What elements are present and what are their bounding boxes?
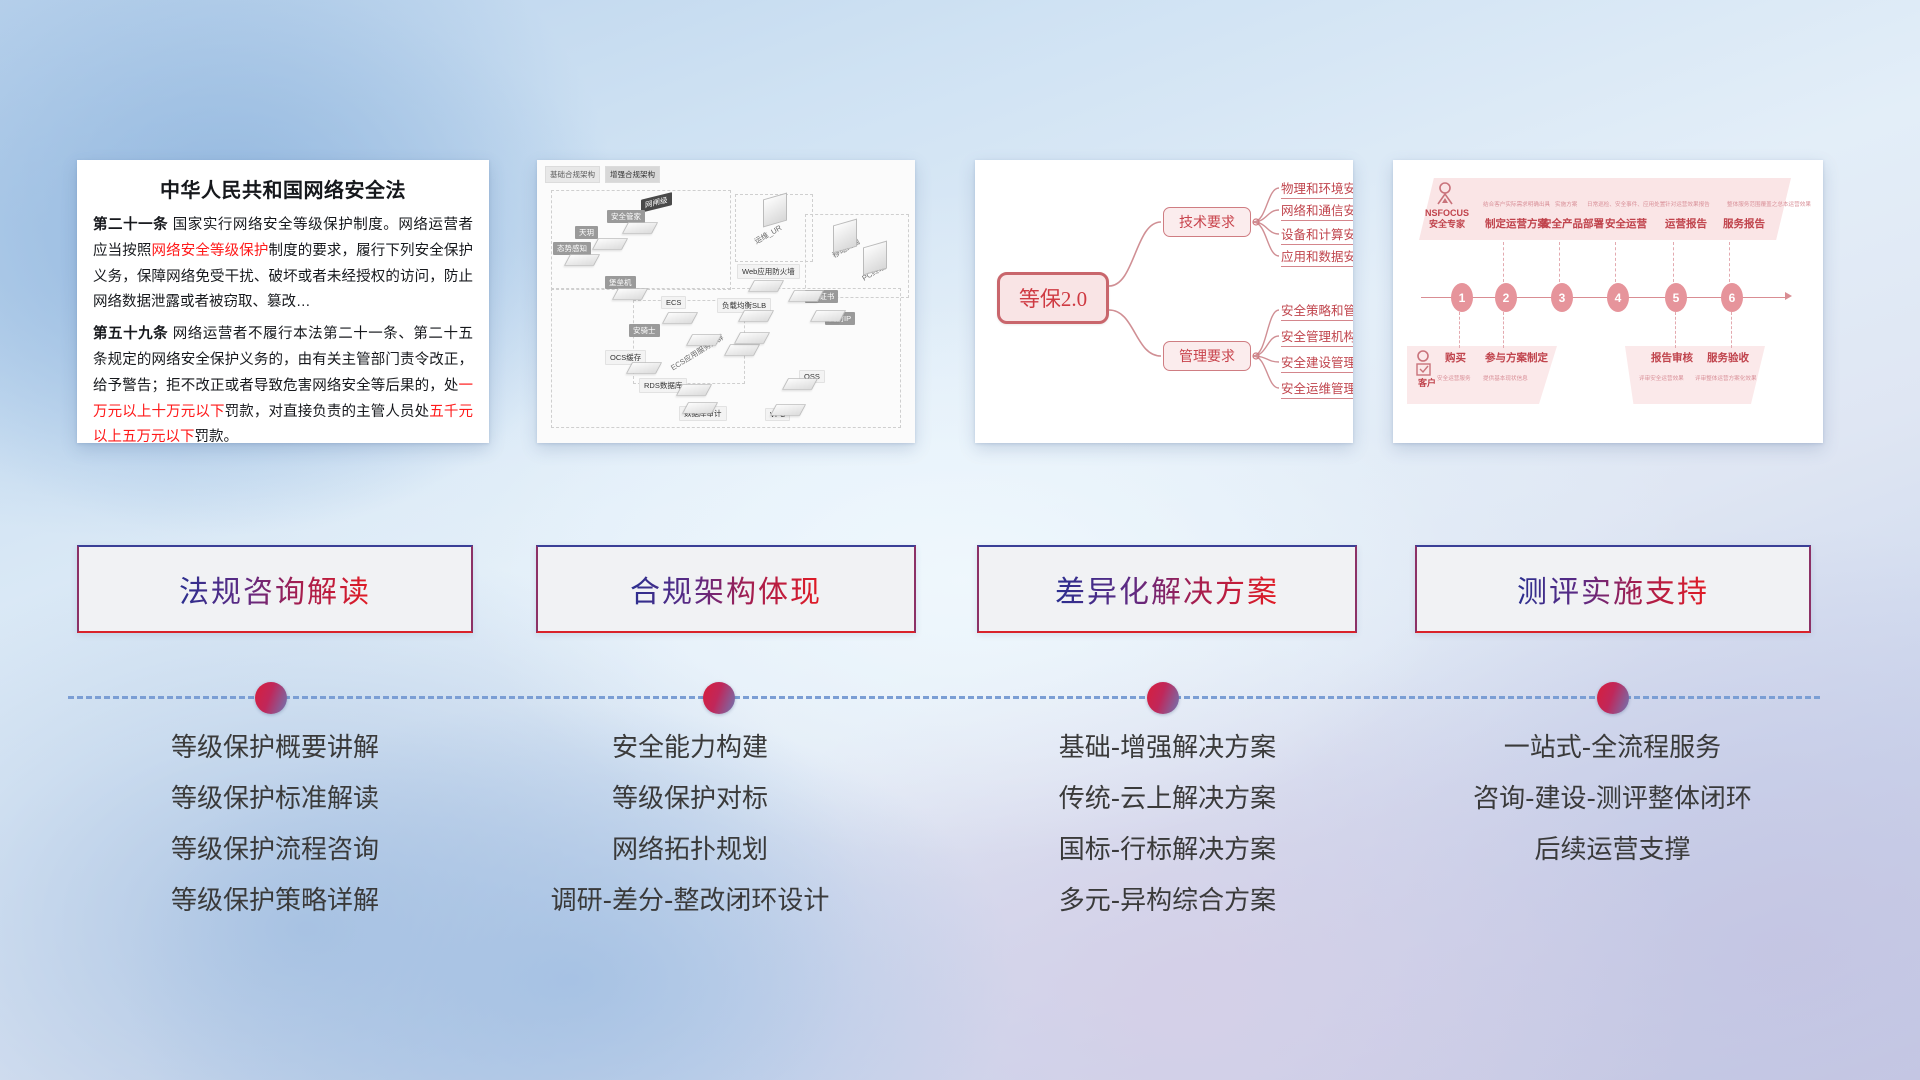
roadmap-sub-bot-1: 安全运营服务 [1437, 374, 1471, 382]
title-label-compliance-architecture: 合规架构体现 [630, 567, 822, 611]
arch-tab-enhanced[interactable]: 增强合规架构 [605, 166, 660, 183]
arch-node-icon-15 [685, 400, 715, 416]
bullet-item: 基础-增强解决方案 [975, 735, 1360, 761]
mindmap-canvas: 等保2.0 技术要求 管理要求 物理和环境安全 网络和通信安全 设备和计算安全 … [975, 160, 1353, 443]
mindmap-leaf-network: 网络和通信安全 [1281, 200, 1353, 221]
law-article-59: 第五十九条 [93, 326, 168, 342]
mindmap-branch-technical[interactable]: 技术要求 [1163, 207, 1251, 237]
card-nsfocus-roadmap[interactable]: NSFOCUS 安全专家 客户 1 2 3 4 5 6 结合客户实际需求明确出具… [1393, 160, 1823, 443]
arch-label-ecs: ECS [661, 296, 686, 309]
timeline-dot-1[interactable] [255, 682, 287, 714]
roadmap-tick-b6 [1731, 312, 1732, 348]
roadmap-actor-nsfocus: NSFOCUS 安全专家 [1421, 208, 1473, 231]
arch-node-icon-2 [595, 236, 625, 252]
bullet-item: 等级保护对标 [470, 786, 910, 812]
arch-node-icon-17 [773, 402, 803, 418]
roadmap-step-6: 6 [1721, 283, 1743, 312]
title-box-compliance-architecture[interactable]: 合规架构体现 [536, 545, 916, 633]
title-box-regulation-consulting[interactable]: 法规咨询解读 [77, 545, 473, 633]
roadmap-stage-bot-4: 服务验收 [1707, 350, 1749, 365]
mindmap-root-node[interactable]: 等保2.0 [997, 272, 1109, 324]
timeline-dot-2[interactable] [703, 682, 735, 714]
arch-node-icon-9 [615, 286, 645, 302]
timeline [0, 670, 1920, 730]
law-article-21: 第二十一条 [93, 217, 168, 233]
arch-node-icon-6 [863, 244, 887, 272]
roadmap-stage-top-2: 安全产品部署 [1541, 216, 1604, 231]
bullet-item: 后续运营支撑 [1400, 837, 1825, 863]
bullet-item: 国标-行标解决方案 [975, 837, 1360, 863]
bullet-item: 等级保护策略详解 [70, 888, 480, 914]
law-paragraph-2: 第五十九条 网络运营者不履行本法第二十一条、第二十五条规定的网络安全保护义务的，… [93, 322, 473, 443]
roadmap-stage-top-4: 运营报告 [1665, 216, 1707, 231]
law-p2-post: 罚款。 [195, 429, 239, 443]
bullet-item: 多元-异构综合方案 [975, 888, 1360, 914]
timeline-dashed-line [68, 696, 1820, 699]
bullet-item: 安全能力构建 [470, 735, 910, 761]
mindmap-leaf-policy: 安全策略和管理制度 [1281, 300, 1353, 321]
timeline-dot-3[interactable] [1147, 682, 1179, 714]
arch-node-icon-5 [833, 222, 857, 250]
arch-node-icon-16 [785, 376, 815, 392]
roadmap-step-1: 1 [1451, 283, 1473, 312]
title-row: 法规咨询解读 合规架构体现 差异化解决方案 测评实施支持 [0, 545, 1920, 645]
roadmap-tick-b1 [1459, 312, 1460, 348]
bullet-item: 等级保护流程咨询 [70, 837, 480, 863]
roadmap-sub-top-2: 实施方案 [1555, 200, 1577, 208]
card-mindmap-dengbao[interactable]: 等保2.0 技术要求 管理要求 物理和环境安全 网络和通信安全 设备和计算安全 … [975, 160, 1353, 443]
bullet-columns: 等级保护概要讲解 等级保护标准解读 等级保护流程咨询 等级保护策略详解 安全能力… [0, 735, 1920, 975]
arch-node-icon-1 [567, 252, 597, 268]
roadmap-arrow-icon [1785, 292, 1792, 300]
arch-node-icon-20 [737, 330, 767, 346]
bullet-item: 等级保护标准解读 [70, 786, 480, 812]
roadmap-step-5: 5 [1665, 283, 1687, 312]
roadmap-tick-5 [1673, 242, 1674, 282]
bullet-item: 等级保护概要讲解 [70, 735, 480, 761]
arch-tab-basic[interactable]: 基础合规架构 [545, 166, 600, 183]
architecture-tabs: 基础合规架构 增强合规架构 [545, 166, 660, 183]
title-label-differentiated-solution: 差异化解决方案 [1055, 567, 1279, 611]
roadmap-step-4: 4 [1607, 283, 1629, 312]
bullet-item: 咨询-建设-测评整体闭环 [1400, 786, 1825, 812]
roadmap-sub-bot-2: 提供基本现状信息 [1483, 374, 1528, 382]
bullet-item: 网络拓扑规划 [470, 837, 910, 863]
arch-label-anqishi: 安骑士 [629, 324, 660, 337]
arch-node-icon-8 [741, 308, 771, 324]
roadmap-sub-top-3: 日常巡检、安全事件、应用处置 [1587, 200, 1665, 208]
arch-node-icon-10 [665, 310, 695, 326]
roadmap-tick-3 [1559, 242, 1560, 282]
mindmap-leaf-physical: 物理和环境安全 [1281, 178, 1353, 199]
roadmap-tick-b2 [1503, 312, 1504, 348]
roadmap-stage-bot-3: 报告审核 [1651, 350, 1693, 365]
roadmap-stage-top-3: 安全运营 [1605, 216, 1647, 231]
arch-node-icon-18 [791, 288, 821, 304]
bullet-item: 调研-差分-整改闭环设计 [470, 888, 910, 914]
timeline-dot-4[interactable] [1597, 682, 1629, 714]
law-body: 第二十一条 国家实行网络安全等级保护制度。网络运营者应当按照网络安全等级保护制度… [77, 213, 489, 443]
mindmap-leaf-operation: 安全运维管理 [1281, 378, 1353, 399]
law-paragraph-1: 第二十一条 国家实行网络安全等级保护制度。网络运营者应当按照网络安全等级保护制度… [93, 213, 473, 316]
architecture-canvas: 基础合规架构 增强合规架构 网闸级 安全管家 天玥 态势感知 运维_UR Web… [537, 160, 915, 443]
roadmap-tick-4 [1615, 242, 1616, 282]
roadmap-sub-bot-4: 评审整体运营方案化效果 [1695, 374, 1757, 382]
arch-node-icon-3 [625, 220, 655, 236]
roadmap-stage-top-1: 制定运营方案 [1485, 216, 1548, 231]
thumbnail-row: 中华人民共和国网络安全法 第二十一条 国家实行网络安全等级保护制度。网络运营者应… [0, 148, 1920, 448]
column-differentiated-solution: 基础-增强解决方案 传统-云上解决方案 国标-行标解决方案 多元-异构综合方案 [975, 735, 1360, 939]
roadmap-tick-2 [1503, 242, 1504, 282]
card-cloud-architecture[interactable]: 基础合规架构 增强合规架构 网闸级 安全管家 天玥 态势感知 运维_UR Web… [537, 160, 915, 443]
arch-zone-terminal [805, 214, 909, 298]
mindmap-branch-management[interactable]: 管理要求 [1163, 341, 1251, 371]
law-p1-highlight: 网络安全等级保护 [151, 243, 268, 259]
roadmap-sub-bot-3: 评审安全运营效果 [1639, 374, 1684, 382]
bullet-item: 一站式-全流程服务 [1400, 735, 1825, 761]
arch-label-waf: Web应用防火墙 [737, 264, 800, 279]
roadmap-sub-top-5: 整体服务范围覆盖之总本运营效果 [1727, 200, 1811, 208]
mindmap-leaf-construction: 安全建设管理 [1281, 352, 1353, 373]
roadmap-stage-bot-2: 参与方案制定 [1485, 350, 1548, 365]
column-regulation-consulting: 等级保护概要讲解 等级保护标准解读 等级保护流程咨询 等级保护策略详解 [70, 735, 480, 939]
title-box-assessment-support[interactable]: 测评实施支持 [1415, 545, 1811, 633]
arch-node-icon-4 [763, 196, 787, 224]
bullet-item: 传统-云上解决方案 [975, 786, 1360, 812]
mindmap-leaf-application: 应用和数据安全 [1281, 246, 1353, 267]
roadmap-step-3: 3 [1551, 283, 1573, 312]
column-compliance-architecture: 安全能力构建 等级保护对标 网络拓扑规划 调研-差分-整改闭环设计 [470, 735, 910, 939]
roadmap-sub-top-1: 结合客户实际需求明确出具 [1483, 200, 1550, 208]
card-law-excerpt[interactable]: 中华人民共和国网络安全法 第二十一条 国家实行网络安全等级保护制度。网络运营者应… [77, 160, 489, 443]
roadmap-stage-top-5: 服务报告 [1723, 216, 1765, 231]
roadmap-stage-bot-1: 购买 [1445, 350, 1466, 365]
roadmap-actor-nsfocus-line2: 安全专家 [1421, 219, 1473, 230]
title-box-differentiated-solution[interactable]: 差异化解决方案 [977, 545, 1357, 633]
roadmap-actor-nsfocus-line1: NSFOCUS [1421, 208, 1473, 219]
law-p2-mid: 罚款，对直接负责的主管人员处 [225, 404, 430, 420]
title-label-regulation-consulting: 法规咨询解读 [179, 567, 371, 611]
arch-node-icon-14 [679, 382, 709, 398]
roadmap-tick-6 [1729, 242, 1730, 282]
arch-node-icon-11 [689, 332, 719, 348]
roadmap-tick-b5 [1675, 312, 1676, 348]
law-title: 中华人民共和国网络安全法 [77, 160, 489, 213]
arch-node-icon-13 [629, 360, 659, 376]
mindmap-leaf-org: 安全管理机构和人员 [1281, 326, 1353, 347]
roadmap-sub-top-4: 针对运营效果报告 [1665, 200, 1710, 208]
roadmap-step-2: 2 [1495, 283, 1517, 312]
title-label-assessment-support: 测评实施支持 [1517, 567, 1709, 611]
arch-node-icon-19 [813, 308, 843, 324]
mindmap-leaf-device: 设备和计算安全 [1281, 224, 1353, 245]
roadmap-canvas: NSFOCUS 安全专家 客户 1 2 3 4 5 6 结合客户实际需求明确出具… [1393, 160, 1823, 443]
arch-node-icon-7 [751, 278, 781, 294]
column-assessment-support: 一站式-全流程服务 咨询-建设-测评整体闭环 后续运营支撑 [1400, 735, 1825, 888]
